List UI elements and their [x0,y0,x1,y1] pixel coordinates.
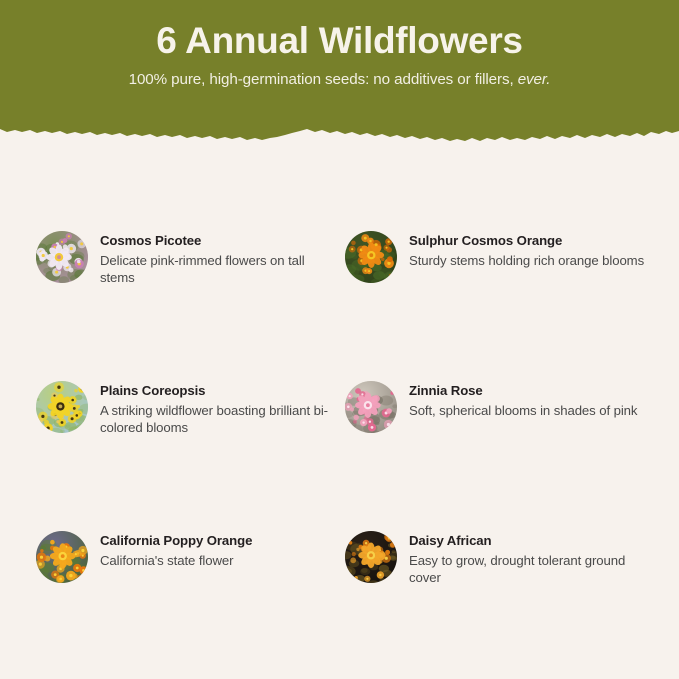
header-banner: 6 Annual Wildflowers 100% pure, high-ger… [0,0,679,143]
list-item[interactable]: California Poppy OrangeCalifornia's stat… [36,518,345,668]
list-item[interactable]: Daisy AfricanEasy to grow, drought toler… [345,518,654,668]
list-item-title: Sulphur Cosmos Orange [409,233,644,250]
list-item-title: Zinnia Rose [409,383,637,400]
list-item-description: Easy to grow, drought tolerant ground co… [409,550,647,588]
list-item-text: Plains CoreopsisA striking wildflower bo… [88,368,338,437]
list-item-description: Soft, spherical blooms in shades of pink [409,400,637,420]
wildflower-list: Cosmos PicoteeDelicate pink-rimmed flowe… [0,218,679,668]
list-item-description: A striking wildflower boasting brilliant… [100,400,338,438]
list-item[interactable]: Sulphur Cosmos OrangeSturdy stems holdin… [345,218,654,368]
zinnia-rose-thumbnail [345,381,397,433]
plains-coreopsis-thumbnail [36,381,88,433]
list-item-description: Sturdy stems holding rich orange blooms [409,250,644,270]
subtitle-main-text: 100% pure, high-germination seeds: no ad… [129,71,514,88]
header-text-block: 6 Annual Wildflowers 100% pure, high-ger… [0,0,679,130]
list-item[interactable]: Plains CoreopsisA striking wildflower bo… [36,368,345,518]
page-subtitle: 100% pure, high-germination seeds: no ad… [129,62,551,88]
list-item-description: Delicate pink-rimmed flowers on tall ste… [100,250,338,288]
list-item[interactable]: Cosmos PicoteeDelicate pink-rimmed flowe… [36,218,345,368]
california-poppy-orange-thumbnail [36,531,88,583]
list-item-title: Plains Coreopsis [100,383,338,400]
list-item-text: Cosmos PicoteeDelicate pink-rimmed flowe… [88,218,338,287]
subtitle-emphasis-text: ever. [518,71,551,88]
list-item-text: Daisy AfricanEasy to grow, drought toler… [397,518,647,587]
list-item-title: Cosmos Picotee [100,233,338,250]
page-title: 6 Annual Wildflowers [156,21,522,62]
list-item-text: California Poppy OrangeCalifornia's stat… [88,518,252,569]
sulphur-cosmos-orange-thumbnail [345,231,397,283]
list-item-text: Zinnia RoseSoft, spherical blooms in sha… [397,368,637,419]
list-item-description: California's state flower [100,550,252,570]
list-item-title: Daisy African [409,533,647,550]
cosmos-picotee-thumbnail [36,231,88,283]
list-item-text: Sulphur Cosmos OrangeSturdy stems holdin… [397,218,644,269]
list-item[interactable]: Zinnia RoseSoft, spherical blooms in sha… [345,368,654,518]
daisy-african-thumbnail [345,531,397,583]
list-item-title: California Poppy Orange [100,533,252,550]
